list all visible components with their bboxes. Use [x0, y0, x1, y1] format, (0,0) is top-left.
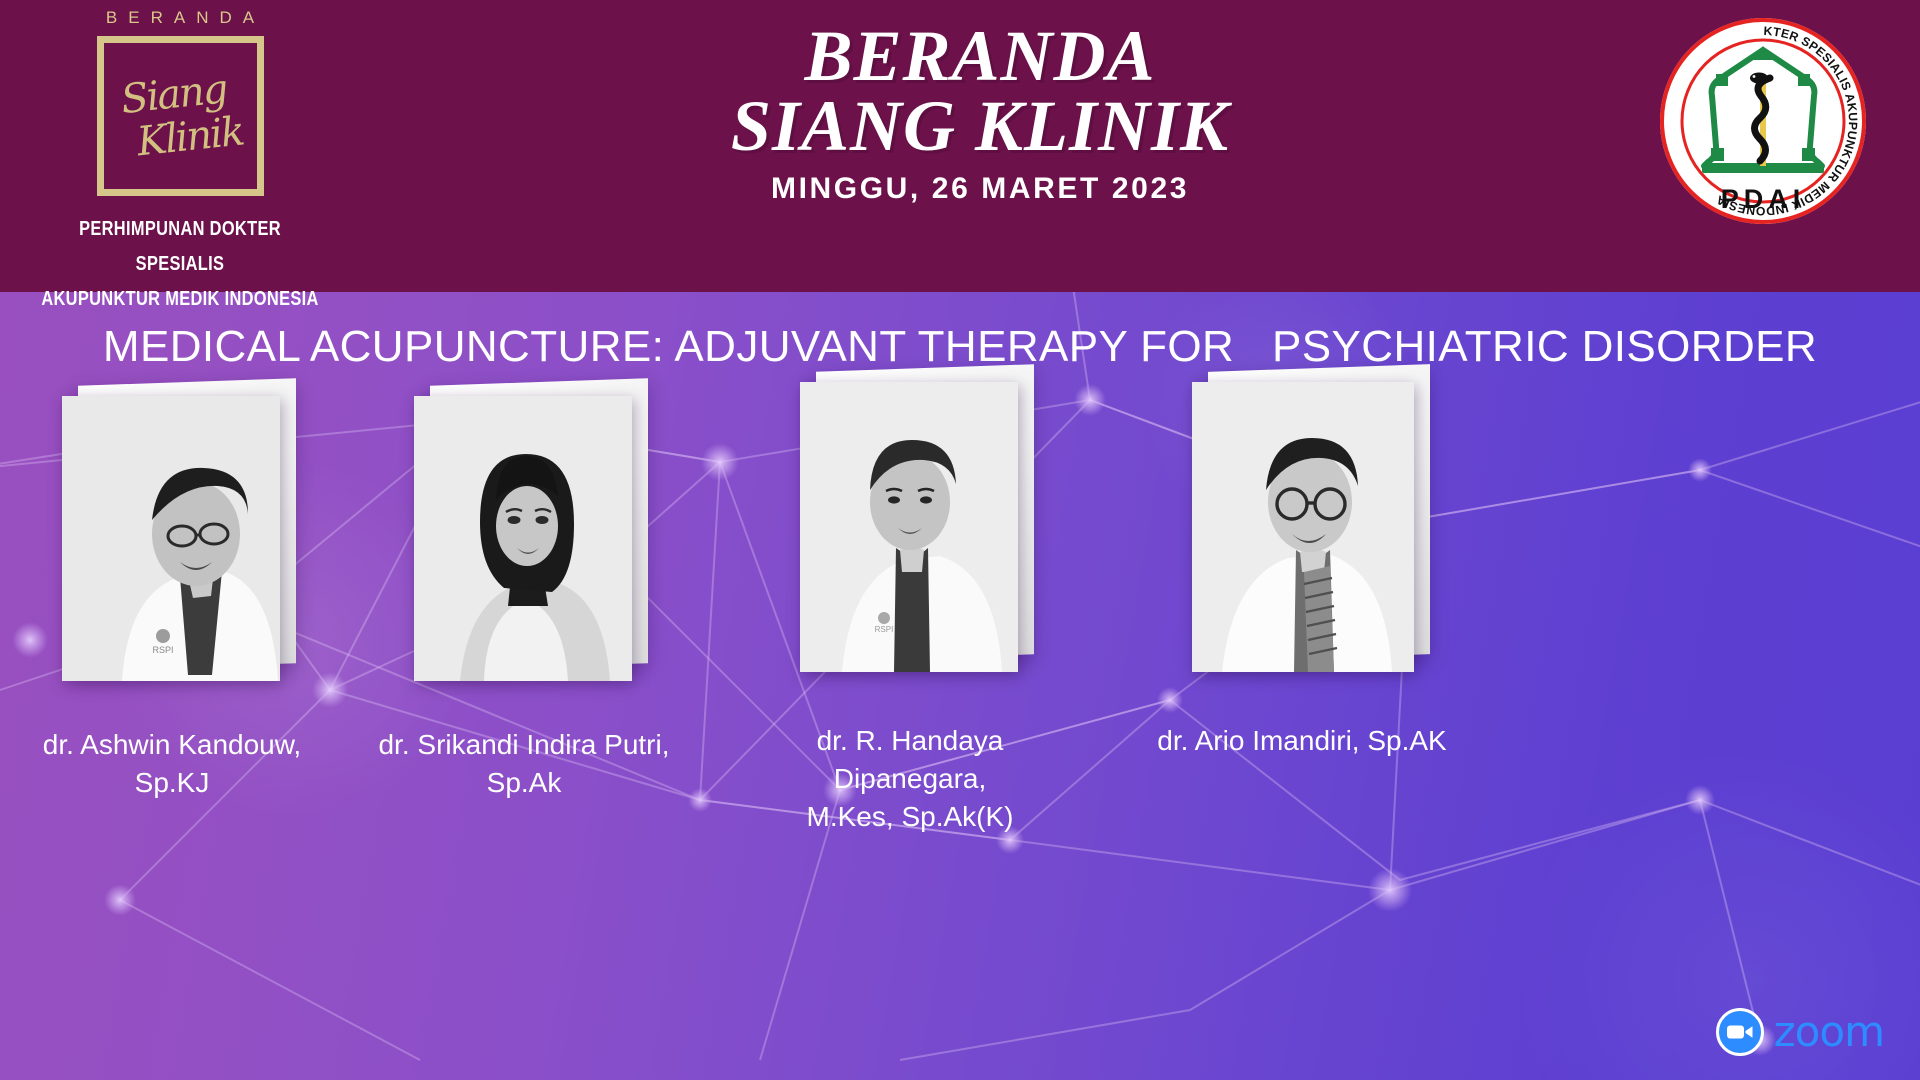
speaker-card-4: dr. Ario Imandiri, Sp.AK	[1192, 382, 1414, 672]
brand-lockup: BERANDA Siang Klinik PERHIMPUNAN DOKTER …	[0, 8, 360, 317]
speaker-name-1: dr. Ashwin Kandouw, Sp.KJ	[22, 726, 322, 802]
speaker-card-1: RSPI dr. Ashwin Kandouw, Sp.KJ	[62, 396, 280, 681]
organization-line-1: PERHIMPUNAN DOKTER SPESIALIS	[32, 212, 327, 282]
speaker-photo-frame-3: RSPI	[800, 382, 1018, 672]
brand-script-klinik: Klinik	[135, 113, 245, 162]
event-title-block: BERANDA SIANG KLINIK MINGGU, 26 MARET 20…	[420, 22, 1540, 206]
svg-text:RSPI: RSPI	[875, 625, 894, 634]
header-band: BERANDA Siang Klinik PERHIMPUNAN DOKTER …	[0, 0, 1920, 292]
speaker-name-4: dr. Ario Imandiri, Sp.AK	[1147, 722, 1457, 760]
zoom-platform-logo: zoom	[1716, 1007, 1884, 1056]
event-title-line-2: SIANG KLINIK	[420, 92, 1540, 162]
brand-wordmark: BERANDA	[0, 8, 360, 28]
speaker-photo-frame-4	[1192, 382, 1414, 672]
organization-name: PERHIMPUNAN DOKTER SPESIALIS AKUPUNKTUR …	[32, 212, 327, 317]
pdai-logo: PERHIMPUNAN DOKTER SPESIALIS AKUPUNKTUR …	[1658, 16, 1868, 226]
event-title-line-1: BERANDA	[420, 22, 1540, 92]
session-headline: MEDICAL ACUPUNCTURE: ADJUVANT THERAPY FO…	[0, 322, 1920, 372]
speaker-portrait-1: RSPI	[62, 396, 280, 681]
zoom-wordmark: zoom	[1774, 1007, 1884, 1056]
brand-frame-inner: Siang Klinik	[107, 46, 254, 186]
event-date: MINGGU, 26 MARET 2023	[420, 172, 1540, 206]
speaker-name-2: dr. Srikandi Indira Putri, Sp.Ak	[369, 726, 679, 802]
pdai-acronym: PDAI	[1721, 184, 1806, 214]
organization-line-2: AKUPUNKTUR MEDIK INDONESIA	[32, 282, 327, 317]
svg-text:RSPI: RSPI	[152, 645, 173, 655]
speaker-portrait-4	[1192, 382, 1414, 672]
speaker-photo-frame-2	[414, 396, 632, 681]
slide-canvas: BERANDA Siang Klinik PERHIMPUNAN DOKTER …	[0, 0, 1920, 1080]
brand-gold-frame: Siang Klinik	[97, 36, 264, 196]
speaker-portrait-3: RSPI	[800, 382, 1018, 672]
speaker-card-3: RSPI dr. R. Handaya Dipanegara, M.Kes, S…	[800, 382, 1018, 672]
speaker-card-2: dr. Srikandi Indira Putri, Sp.Ak	[414, 396, 632, 681]
speaker-portrait-2	[414, 396, 632, 681]
speaker-photo-frame-1: RSPI	[62, 396, 280, 681]
video-camera-icon	[1716, 1008, 1764, 1056]
speaker-name-3: dr. R. Handaya Dipanegara, M.Kes, Sp.Ak(…	[745, 722, 1075, 835]
